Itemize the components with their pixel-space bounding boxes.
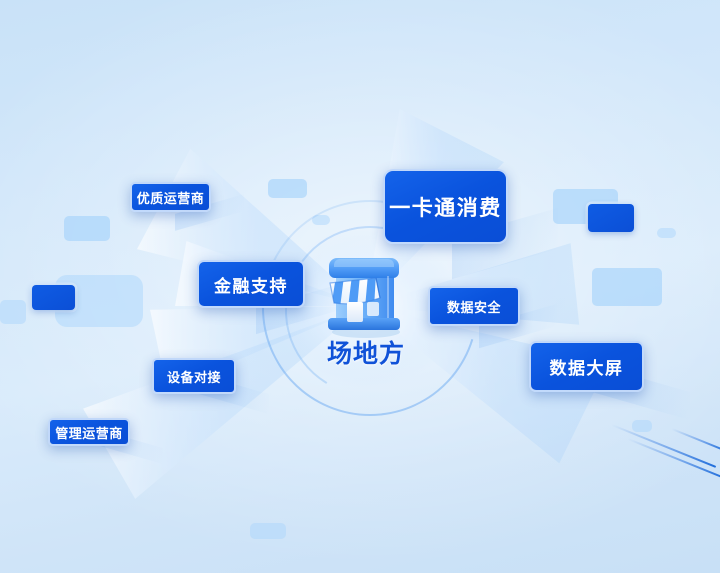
streak-3 (672, 428, 720, 452)
node-data-dashboard[interactable]: 数据大屏 (529, 341, 644, 392)
node-shadow (175, 194, 244, 230)
node-label: 设备对接 (167, 367, 221, 386)
node-premium-operator[interactable]: 优质运营商 (130, 182, 211, 212)
decorative-rect (32, 285, 75, 310)
hero-illustration: 场地方 优质运营商一卡通消费金融支持数据安全数据大屏设备对接管理运营商 (0, 0, 720, 573)
decorative-rect (268, 179, 307, 198)
decorative-rect (657, 228, 676, 238)
node-device-docking[interactable]: 设备对接 (152, 358, 236, 394)
decorative-rect (0, 300, 26, 324)
node-shadow (93, 428, 163, 464)
decorative-rect (250, 523, 286, 539)
streak-1 (612, 424, 717, 468)
streak-2 (628, 438, 720, 479)
storefront-icon (318, 248, 410, 338)
node-shadow (592, 364, 690, 420)
center-label: 场地方 (298, 334, 434, 370)
decorative-rect (553, 189, 618, 224)
decorative-rect (64, 216, 110, 241)
decorative-rect (55, 275, 143, 327)
node-label: 管理运营商 (55, 423, 123, 442)
decorative-rect (592, 268, 662, 306)
node-manage-operator[interactable]: 管理运营商 (48, 418, 130, 446)
decorative-rect (588, 204, 634, 232)
node-label: 数据大屏 (550, 354, 624, 379)
node-label: 优质运营商 (137, 188, 205, 207)
node-shadow (198, 374, 269, 414)
decorative-rect (632, 420, 652, 432)
node-shadow (479, 304, 557, 348)
